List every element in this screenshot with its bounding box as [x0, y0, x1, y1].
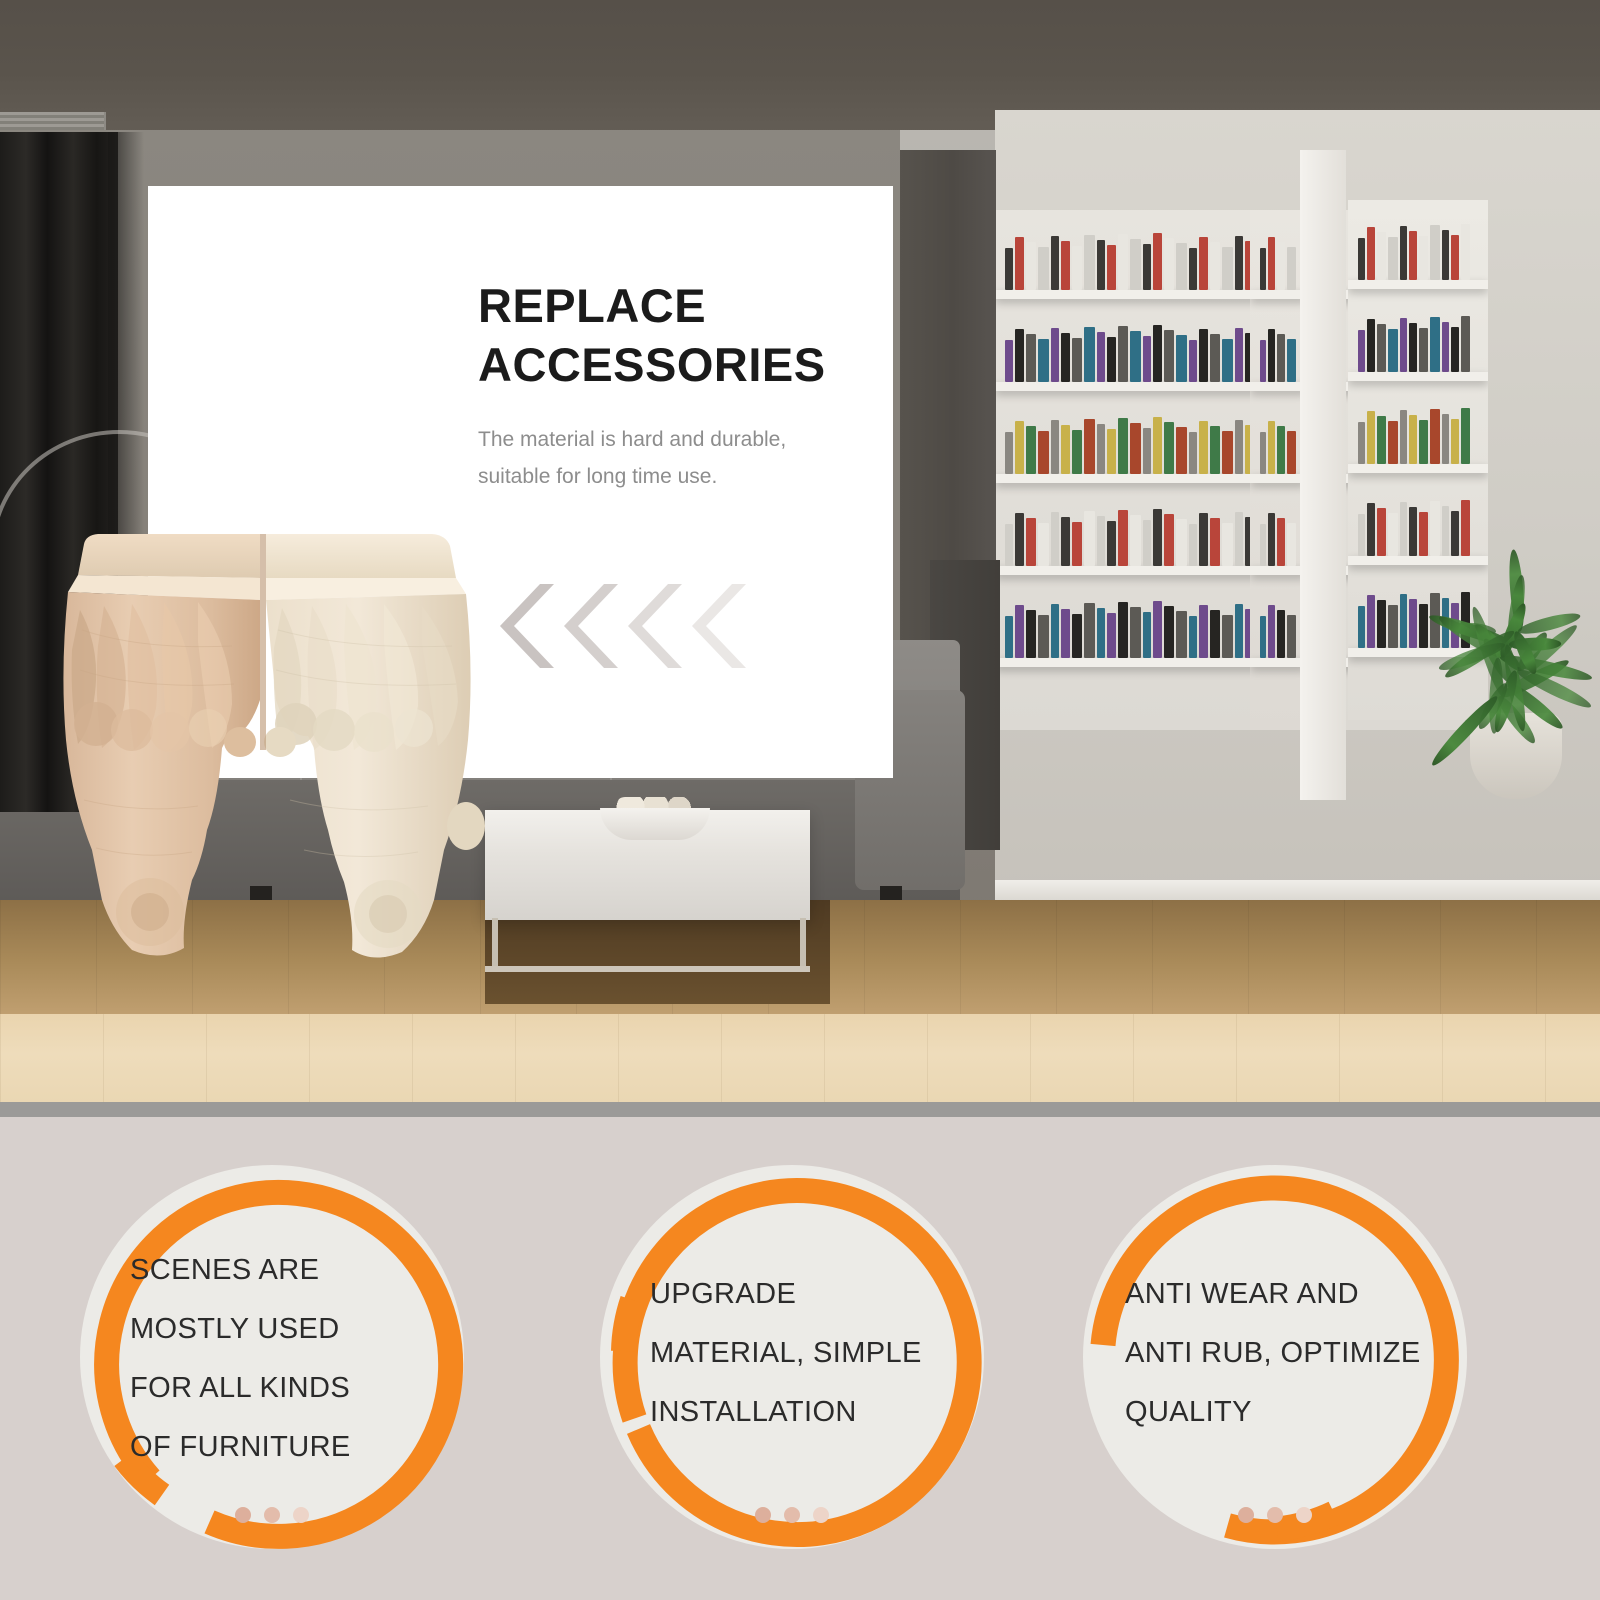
feature-card-antiwear[interactable]: ANTI WEAR AND ANTI RUB, OPTIMIZE QUALITY: [1055, 1137, 1495, 1577]
book-spine: [1199, 605, 1208, 658]
dot-3: [293, 1507, 309, 1523]
book-spine: [1051, 420, 1059, 474]
book-spine: [1287, 615, 1296, 658]
book-row: [1358, 222, 1470, 280]
book-spine: [1400, 502, 1407, 556]
book-spine: [1430, 409, 1440, 464]
book-spine: [1358, 238, 1365, 280]
book-spine: [1118, 510, 1128, 566]
book-spine: [1015, 513, 1024, 566]
book-spine: [1084, 511, 1095, 566]
book-spine: [1358, 422, 1365, 464]
book-spine: [1097, 516, 1105, 566]
book-spine: [1015, 605, 1024, 658]
dot-1: [1238, 1507, 1254, 1523]
book-row: [1260, 416, 1296, 474]
book-spine: [1084, 235, 1095, 290]
book-spine: [1038, 523, 1049, 566]
book-spine: [1367, 411, 1375, 464]
book-spine: [1388, 513, 1398, 556]
book-spine: [1210, 610, 1220, 658]
book-spine: [1005, 340, 1013, 382]
book-spine: [1277, 610, 1285, 658]
decorative-bowl: [600, 808, 710, 840]
book-spine: [1107, 429, 1116, 474]
shelf-ledge: [1250, 474, 1306, 483]
book-spine: [1061, 609, 1070, 658]
book-spine: [1189, 524, 1197, 566]
feature-line-1: SCENES ARE: [130, 1241, 430, 1300]
shelf-ledge: [1250, 658, 1306, 667]
book-row: [1260, 508, 1296, 566]
book-spine: [1097, 424, 1105, 474]
book-spine: [1461, 224, 1470, 280]
headline-line-2: ACCESSORIES: [478, 338, 826, 391]
book-spine: [1130, 331, 1141, 382]
book-spine: [1143, 428, 1151, 474]
book-spine: [1268, 329, 1275, 382]
features-panel: SCENES ARE MOSTLY USED FOR ALL KINDS OF …: [0, 1117, 1600, 1600]
dot-3: [1296, 1507, 1312, 1523]
book-spine: [1084, 419, 1095, 474]
feature-line-2: MOSTLY USED: [130, 1300, 430, 1359]
book-spine: [1430, 225, 1440, 280]
book-spine: [1388, 329, 1398, 372]
book-spine: [1038, 339, 1049, 382]
book-spine: [1400, 226, 1407, 280]
shelf-ledge: [1250, 290, 1306, 299]
book-spine: [1026, 610, 1036, 658]
book-spine: [1153, 325, 1162, 382]
feature-card-upgrade[interactable]: UPGRADE MATERIAL, SIMPLE INSTALLATION: [572, 1137, 1012, 1577]
book-spine: [1176, 335, 1187, 382]
wooden-leg-left: [63, 534, 260, 956]
book-spine: [1377, 508, 1386, 556]
book-spine: [1358, 514, 1365, 556]
book-row: [1260, 324, 1296, 382]
product-image-wooden-furniture-leg: [32, 500, 517, 970]
book-spine: [1084, 327, 1095, 382]
book-spine: [1005, 432, 1013, 474]
book-row: [1358, 406, 1470, 464]
book-spine: [1409, 415, 1417, 464]
book-spine: [1400, 594, 1407, 648]
book-spine: [1367, 503, 1375, 556]
book-spine: [1189, 616, 1197, 658]
book-spine: [1199, 513, 1208, 566]
book-spine: [1026, 426, 1036, 474]
book-spine: [1367, 227, 1375, 280]
book-spine: [1419, 236, 1428, 280]
book-spine: [1287, 431, 1296, 474]
book-spine: [1235, 328, 1243, 382]
book-spine: [1189, 340, 1197, 382]
book-spine: [1026, 518, 1036, 566]
shelf-ledge: [1348, 280, 1488, 289]
wooden-leg-right: [264, 534, 485, 958]
book-spine: [1210, 242, 1220, 290]
book-row: [1260, 232, 1296, 290]
book-spine: [1210, 518, 1220, 566]
feature-line-1: UPGRADE: [650, 1265, 950, 1324]
book-spine: [1461, 316, 1470, 372]
dot-2: [1267, 1507, 1283, 1523]
feature-card-scenes[interactable]: SCENES ARE MOSTLY USED FOR ALL KINDS OF …: [52, 1137, 492, 1577]
book-spine: [1051, 236, 1059, 290]
book-spine: [1130, 515, 1141, 566]
book-spine: [1287, 523, 1296, 566]
book-spine: [1268, 421, 1275, 474]
book-spine: [1097, 608, 1105, 658]
feature-line-3: INSTALLATION: [650, 1383, 950, 1442]
book-spine: [1026, 334, 1036, 382]
book-spine: [1367, 595, 1375, 648]
book-spine: [1451, 327, 1459, 372]
book-spine: [1400, 318, 1407, 372]
book-spine: [1199, 237, 1208, 290]
feature-dots: [52, 1507, 492, 1523]
book-spine: [1153, 509, 1162, 566]
book-spine: [1143, 520, 1151, 566]
book-spine: [1061, 517, 1070, 566]
chevron-arrow-group: [500, 584, 746, 668]
book-spine: [1199, 421, 1208, 474]
book-row: [1260, 600, 1296, 658]
book-spine: [1235, 420, 1243, 474]
book-spine: [1164, 606, 1174, 658]
book-spine: [1377, 232, 1386, 280]
coffee-table-leg: [800, 918, 806, 972]
page-title: REPLACEACCESSORIES: [478, 276, 863, 394]
book-spine: [1222, 431, 1233, 474]
book-spine: [1358, 330, 1365, 372]
living-room-scene-photo: REPLACEACCESSORIES The material is hard …: [0, 0, 1600, 1117]
book-spine: [1210, 426, 1220, 474]
book-spine: [1130, 423, 1141, 474]
shelf-ledge: [1348, 372, 1488, 381]
book-spine: [1143, 336, 1151, 382]
sofa-foot: [880, 886, 902, 900]
shelf-ledge: [1250, 382, 1306, 391]
book-spine: [1442, 414, 1449, 464]
book-spine: [1260, 340, 1266, 382]
book-spine: [1097, 332, 1105, 382]
feature-dots: [1055, 1507, 1495, 1523]
book-spine: [1222, 339, 1233, 382]
book-spine: [1051, 512, 1059, 566]
dot-3: [813, 1507, 829, 1523]
feature-line-1: ANTI WEAR AND: [1125, 1265, 1445, 1324]
book-spine: [1388, 237, 1398, 280]
book-spine: [1442, 322, 1449, 372]
book-spine: [1235, 512, 1243, 566]
book-spine: [1038, 615, 1049, 658]
feature-line-2: ANTI RUB, OPTIMIZE: [1125, 1324, 1445, 1383]
scene-divider-line: [0, 1102, 1600, 1117]
feature-text: ANTI WEAR AND ANTI RUB, OPTIMIZE QUALITY: [1125, 1265, 1445, 1442]
book-spine: [1377, 600, 1386, 648]
book-spine: [1268, 513, 1275, 566]
book-spine: [1118, 234, 1128, 290]
book-spine: [1442, 230, 1449, 280]
book-spine: [1164, 422, 1174, 474]
book-spine: [1260, 248, 1266, 290]
book-spine: [1189, 248, 1197, 290]
feature-line-3: FOR ALL KINDS: [130, 1359, 430, 1418]
book-spine: [1176, 243, 1187, 290]
book-spine: [1377, 324, 1386, 372]
product-marketing-image: REPLACEACCESSORIES The material is hard …: [0, 0, 1600, 1600]
book-spine: [1260, 524, 1266, 566]
book-spine: [1409, 599, 1417, 648]
book-spine: [1051, 604, 1059, 658]
book-spine: [1235, 236, 1243, 290]
book-spine: [1130, 239, 1141, 290]
book-spine: [1143, 612, 1151, 658]
book-spine: [1260, 432, 1266, 474]
dot-2: [784, 1507, 800, 1523]
book-spine: [1176, 611, 1187, 658]
chevron-left-icon: [564, 584, 618, 668]
feature-dots: [572, 1507, 1012, 1523]
book-spine: [1015, 329, 1024, 382]
shelf-ledge: [1250, 566, 1306, 575]
book-spine: [1072, 522, 1082, 566]
book-spine: [1005, 524, 1013, 566]
coffee-table-rail: [485, 966, 810, 972]
chevron-left-icon: [692, 584, 746, 668]
book-spine: [1072, 338, 1082, 382]
feature-line-4: OF FURNITURE: [130, 1418, 430, 1477]
bookshelf-corner-column: [1300, 150, 1346, 800]
book-spine: [1222, 523, 1233, 566]
book-spine: [1130, 607, 1141, 658]
book-spine: [1277, 426, 1285, 474]
book-spine: [1051, 328, 1059, 382]
book-spine: [1222, 247, 1233, 290]
book-spine: [1461, 408, 1470, 464]
dot-2: [264, 1507, 280, 1523]
book-spine: [1072, 430, 1082, 474]
wood-floor-foreground: [0, 1014, 1600, 1102]
book-spine: [1287, 247, 1296, 290]
book-spine: [1107, 245, 1116, 290]
book-spine: [1409, 231, 1417, 280]
book-spine: [1210, 334, 1220, 382]
book-spine: [1189, 432, 1197, 474]
shelf-ledge: [1348, 464, 1488, 473]
book-spine: [1005, 616, 1013, 658]
book-spine: [1107, 337, 1116, 382]
feature-text: SCENES ARE MOSTLY USED FOR ALL KINDS OF …: [130, 1241, 430, 1478]
book-spine: [1164, 330, 1174, 382]
book-spine: [1118, 602, 1128, 658]
book-spine: [1277, 518, 1285, 566]
book-spine: [1153, 601, 1162, 658]
book-spine: [1153, 233, 1162, 290]
book-spine: [1277, 242, 1285, 290]
book-spine: [1164, 514, 1174, 566]
info-card-subtext: The material is hard and durable, suitab…: [478, 422, 863, 494]
book-spine: [1015, 237, 1024, 290]
dot-1: [755, 1507, 771, 1523]
book-spine: [1005, 248, 1013, 290]
chevron-left-icon: [628, 584, 682, 668]
book-spine: [1199, 329, 1208, 382]
book-spine: [1038, 247, 1049, 290]
feature-text: UPGRADE MATERIAL, SIMPLE INSTALLATION: [650, 1265, 950, 1442]
book-spine: [1367, 319, 1375, 372]
book-spine: [1451, 235, 1459, 280]
book-spine: [1038, 431, 1049, 474]
book-spine: [1430, 317, 1440, 372]
book-spine: [1118, 326, 1128, 382]
book-spine: [1222, 615, 1233, 658]
book-spine: [1153, 417, 1162, 474]
book-spine: [1358, 606, 1365, 648]
book-spine: [1176, 519, 1187, 566]
book-spine: [1419, 328, 1428, 372]
book-spine: [1176, 427, 1187, 474]
info-card-content: REPLACEACCESSORIES The material is hard …: [478, 276, 863, 495]
book-spine: [1015, 421, 1024, 474]
book-spine: [1026, 242, 1036, 290]
feature-line-3: QUALITY: [1125, 1383, 1445, 1442]
book-spine: [1164, 238, 1174, 290]
book-spine: [1084, 603, 1095, 658]
book-spine: [1268, 605, 1275, 658]
book-spine: [1260, 616, 1266, 658]
book-spine: [1235, 604, 1243, 658]
book-spine: [1118, 418, 1128, 474]
book-spine: [1277, 334, 1285, 382]
book-spine: [1268, 237, 1275, 290]
book-spine: [1388, 605, 1398, 648]
book-spine: [1287, 339, 1296, 382]
book-spine: [1388, 421, 1398, 464]
potted-palm-plant: [1420, 505, 1600, 805]
dot-1: [235, 1507, 251, 1523]
book-spine: [1419, 420, 1428, 464]
book-spine: [1061, 333, 1070, 382]
book-spine: [1409, 507, 1417, 556]
book-spine: [1107, 521, 1116, 566]
book-spine: [1097, 240, 1105, 290]
book-spine: [1451, 419, 1459, 464]
book-spine: [1377, 416, 1386, 464]
book-spine: [1072, 614, 1082, 658]
feature-line-2: MATERIAL, SIMPLE: [650, 1324, 950, 1383]
book-spine: [1072, 246, 1082, 290]
book-spine: [1143, 244, 1151, 290]
book-spine: [1061, 241, 1070, 290]
book-spine: [1107, 613, 1116, 658]
book-spine: [1409, 323, 1417, 372]
book-row: [1358, 314, 1470, 372]
headline-line-1: REPLACE: [478, 279, 706, 332]
bookshelf-narrow: [1250, 210, 1306, 730]
book-spine: [1400, 410, 1407, 464]
book-spine: [1061, 425, 1070, 474]
baseboard: [995, 880, 1600, 902]
